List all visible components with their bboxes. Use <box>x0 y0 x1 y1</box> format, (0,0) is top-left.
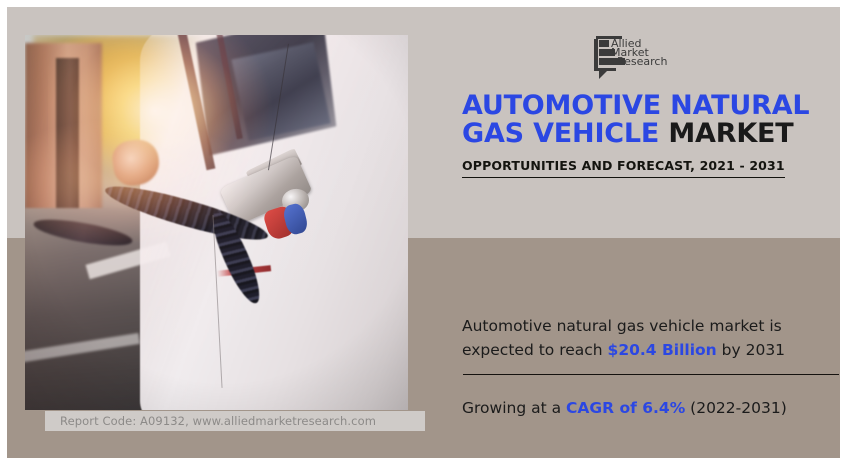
stat-cagr-prefix: Growing at a <box>462 399 566 417</box>
allied-market-research-logo-icon: Allied Market Research <box>586 30 674 82</box>
stat-cagr-value: CAGR of 6.4% <box>566 399 685 417</box>
stat-market-size-value: $20.4 Billion <box>608 341 717 359</box>
page-title: AUTOMOTIVE NATURAL GAS VEHICLE MARKET <box>462 92 834 148</box>
page-title-plain: MARKET <box>668 118 793 149</box>
svg-text:Research: Research <box>617 55 667 68</box>
stat-cagr: Growing at a CAGR of 6.4% (2022-2031) <box>462 396 832 420</box>
page-title-highlight-line2: GAS VEHICLE <box>462 118 659 149</box>
photo-sun-flare <box>25 103 301 261</box>
page-subtitle: OPPORTUNITIES AND FORECAST, 2021 - 2031 <box>462 158 785 178</box>
cng-refuelling-photo <box>25 35 408 410</box>
stat-divider <box>463 374 839 375</box>
stat-market-size-suffix: by 2031 <box>717 341 785 359</box>
photo-composite <box>25 35 408 410</box>
page-title-highlight-line1: AUTOMOTIVE NATURAL <box>462 90 809 121</box>
stat-market-size: Automotive natural gas vehicle market is… <box>462 314 824 362</box>
report-code-caption: Report Code: A09132, www.alliedmarketres… <box>60 412 420 430</box>
stat-cagr-suffix: (2022-2031) <box>685 399 787 417</box>
market-report-poster: Report Code: A09132, www.alliedmarketres… <box>0 0 847 470</box>
